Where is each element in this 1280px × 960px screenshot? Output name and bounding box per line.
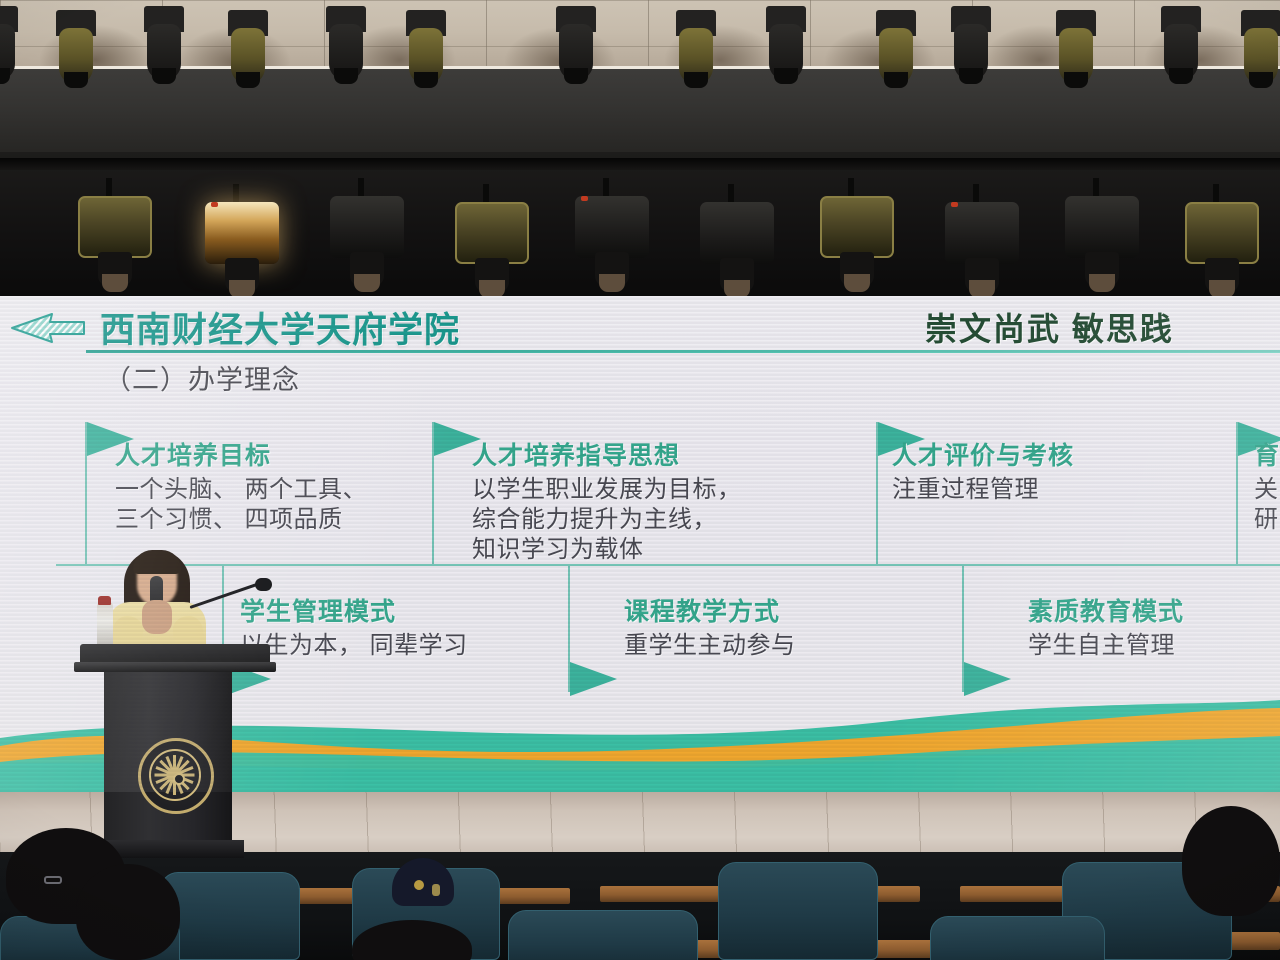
water-bottle-icon [97, 602, 113, 648]
speaker-hands [142, 600, 172, 634]
stage-light-lower [1185, 184, 1259, 296]
card-bottom-1: 学生管理模式 以生为本， 同辈学习 [240, 592, 560, 661]
gooseneck-microphone-icon [190, 582, 261, 609]
stage-light-upper [760, 6, 812, 92]
card-line: 三个习惯、 四项品质 [115, 505, 415, 535]
stage-light-lower [575, 178, 649, 290]
speaker-hair-front [133, 550, 181, 574]
card-title: 素质教育模式 [1028, 592, 1280, 628]
card-line: 以生为本， 同辈学习 [240, 631, 560, 661]
card-top-2: 人才培养指导思想 以学生职业发展为目标， 综合能力提升为主线， 知识学习为载体 [472, 436, 802, 566]
striped-arrow-logo-icon [10, 308, 90, 348]
light-indicator-led [581, 196, 588, 201]
card-line: 重学生主动参与 [624, 631, 944, 661]
stage-light-upper [50, 10, 102, 96]
card-line: 注重过程管理 [892, 475, 1192, 505]
cap-insignia-icon [432, 884, 440, 896]
stage-light-upper [222, 10, 274, 96]
stage-light-lower [455, 184, 529, 296]
auditorium-seat [718, 862, 878, 960]
card-line: 关 [1254, 475, 1280, 505]
stage-light-upper [670, 10, 722, 96]
auditorium-seat [930, 916, 1105, 960]
card-title: 人才评价与考核 [892, 436, 1192, 472]
card-top-1: 人才培养目标 一个头脑、 两个工具、 三个习惯、 四项品质 [115, 436, 415, 535]
card-title: 课程教学方式 [624, 592, 944, 628]
school-name: 西南财经大学天府学院 [100, 302, 460, 353]
school-motto: 崇文尚武 敏思践 [925, 304, 1174, 350]
card-title: 育 [1254, 436, 1280, 472]
auditorium-seat [508, 910, 698, 960]
stage-light-upper [400, 10, 452, 96]
card-title: 人才培养指导思想 [472, 436, 802, 472]
cable-run [0, 158, 1280, 170]
stage-light-lower [330, 178, 404, 290]
audience-head [76, 864, 180, 960]
stage-light-upper [1155, 6, 1207, 92]
section-title: （二）办学理念 [104, 358, 300, 397]
stage-light-upper [0, 6, 24, 92]
stage-light-lower [945, 184, 1019, 296]
teal-flag-icon-7 [964, 662, 1011, 696]
card-title: 人才培养目标 [115, 436, 415, 472]
stage-light-upper [870, 10, 922, 96]
card-line: 研 [1254, 505, 1280, 535]
auditorium-seat [160, 872, 300, 960]
stage-light-upper [320, 6, 372, 92]
stage-light-lower [78, 178, 152, 290]
auditorium-scene: 西南财经大学天府学院 崇文尚武 敏思践 （二）办学理念 [0, 0, 1280, 960]
uniform-cap-icon [392, 858, 454, 906]
light-indicator-led [951, 202, 958, 207]
stage-light-upper [138, 6, 190, 92]
card-top-3: 人才评价与考核 注重过程管理 [892, 436, 1192, 505]
microphone-head-icon [255, 578, 272, 591]
cap-badge-icon [414, 880, 424, 890]
slide-header: 西南财经大学天府学院 崇文尚武 敏思践 [0, 296, 1280, 358]
stage-light-upper [1050, 10, 1102, 96]
stage-light-lower [1065, 178, 1139, 290]
card-bottom-3: 素质教育模式 学生自主管理 [1028, 592, 1280, 661]
stage-light-lower [820, 178, 894, 290]
emblem-hub [173, 773, 185, 785]
audience-area [0, 800, 1280, 960]
header-divider [86, 350, 1280, 353]
podium-lip [74, 662, 276, 672]
stage-light-upper [550, 6, 602, 92]
light-indicator-led [211, 202, 218, 207]
card-line: 学生自主管理 [1028, 631, 1280, 661]
card-line: 综合能力提升为主线， [472, 505, 802, 535]
stage-light-lower [205, 184, 279, 296]
stage-light-upper [1235, 10, 1280, 96]
teal-flag-icon-6 [570, 662, 617, 696]
audience-head [1182, 806, 1280, 916]
stage-light-upper [945, 6, 997, 92]
card-line: 知识学习为载体 [472, 535, 802, 565]
eyeglasses-icon [44, 876, 62, 884]
stage-light-lower [700, 184, 774, 296]
card-bottom-2: 课程教学方式 重学生主动参与 [624, 592, 944, 661]
card-line: 一个头脑、 两个工具、 [115, 475, 415, 505]
card-title: 学生管理模式 [240, 592, 560, 628]
card-top-4-clipped: 育 关 研 [1254, 436, 1280, 535]
card-line: 以学生职业发展为目标， [472, 475, 802, 505]
bottle-cap-icon [98, 596, 111, 605]
